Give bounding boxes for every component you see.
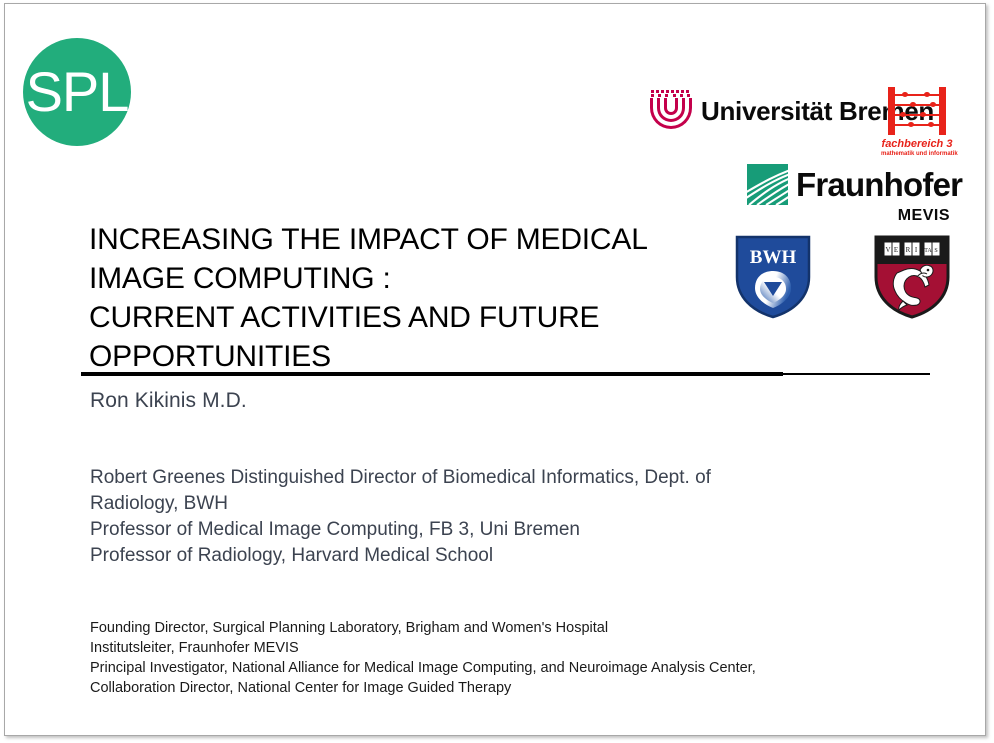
affiliation-line-1: Founding Director, Surgical Planning Lab…: [90, 618, 900, 638]
harvard-medical-school-shield-logo: V E R I TA S: [873, 233, 951, 319]
svg-text:V: V: [885, 246, 890, 254]
role-line-1: Robert Greenes Distinguished Director of…: [90, 465, 790, 491]
spl-logo-text: SPL: [23, 38, 131, 146]
page-title: INCREASING THE IMPACT OF MEDICAL IMAGE C…: [89, 220, 709, 376]
bremen-dots-decoration: [650, 90, 692, 97]
title-divider-thick: [81, 372, 783, 376]
title-line-3: CURRENT ACTIVITIES AND FUTURE: [89, 298, 709, 337]
title-line-4: OPPORTUNITIES: [89, 337, 709, 376]
harvard-shield-icon: V E R I TA S: [873, 233, 951, 319]
fraunhofer-row: Fraunhofer: [747, 164, 952, 205]
title-divider-thin: [783, 373, 930, 375]
bremen-u-inner: [664, 98, 678, 115]
author-roles: Robert Greenes Distinguished Director of…: [90, 465, 790, 569]
role-line-2: Radiology, BWH: [90, 491, 790, 517]
fachbereich-3-subtitle: mathematik und informatik: [881, 150, 953, 158]
fraunhofer-institute-name: MEVIS: [747, 207, 952, 225]
spl-logo: SPL: [23, 38, 131, 146]
presentation-slide: SPL Universität Bremen: [4, 3, 986, 736]
fachbereich-3-logo: fachbereich 3 mathematik und informatik: [881, 87, 953, 158]
bwh-shield-icon: BWH: [734, 233, 812, 319]
bwh-shield-logo: BWH: [734, 233, 812, 319]
veritas-books: V E R I TA S: [884, 242, 940, 256]
title-line-1: INCREASING THE IMPACT OF MEDICAL: [89, 220, 709, 259]
role-line-4: Professor of Radiology, Harvard Medical …: [90, 543, 790, 569]
affiliation-line-2: Institutsleiter, Fraunhofer MEVIS: [90, 638, 900, 658]
svg-text:R: R: [906, 246, 911, 254]
affiliation-line-3: Principal Investigator, National Allianc…: [90, 658, 900, 678]
fraunhofer-mark-icon: [747, 164, 788, 205]
svg-text:TA: TA: [924, 248, 932, 254]
fraunhofer-mevis-logo: Fraunhofer MEVIS: [747, 164, 952, 225]
svg-text:BWH: BWH: [750, 247, 797, 268]
fraunhofer-wordmark: Fraunhofer: [796, 168, 962, 202]
bremen-u-mark-icon: [650, 90, 692, 132]
role-line-3: Professor of Medical Image Computing, FB…: [90, 517, 790, 543]
svg-text:S: S: [934, 248, 937, 254]
fraunhofer-swoosh-icon: [747, 164, 788, 205]
title-line-2: IMAGE COMPUTING :: [89, 259, 709, 298]
affiliation-line-4: Collaboration Director, National Center …: [90, 678, 900, 698]
abacus-icon: [886, 87, 948, 135]
fachbereich-3-title: fachbereich 3: [881, 138, 953, 150]
author-affiliations: Founding Director, Surgical Planning Lab…: [90, 618, 900, 698]
author-name: Ron Kikinis M.D.: [90, 389, 247, 413]
svg-text:E: E: [894, 246, 898, 254]
